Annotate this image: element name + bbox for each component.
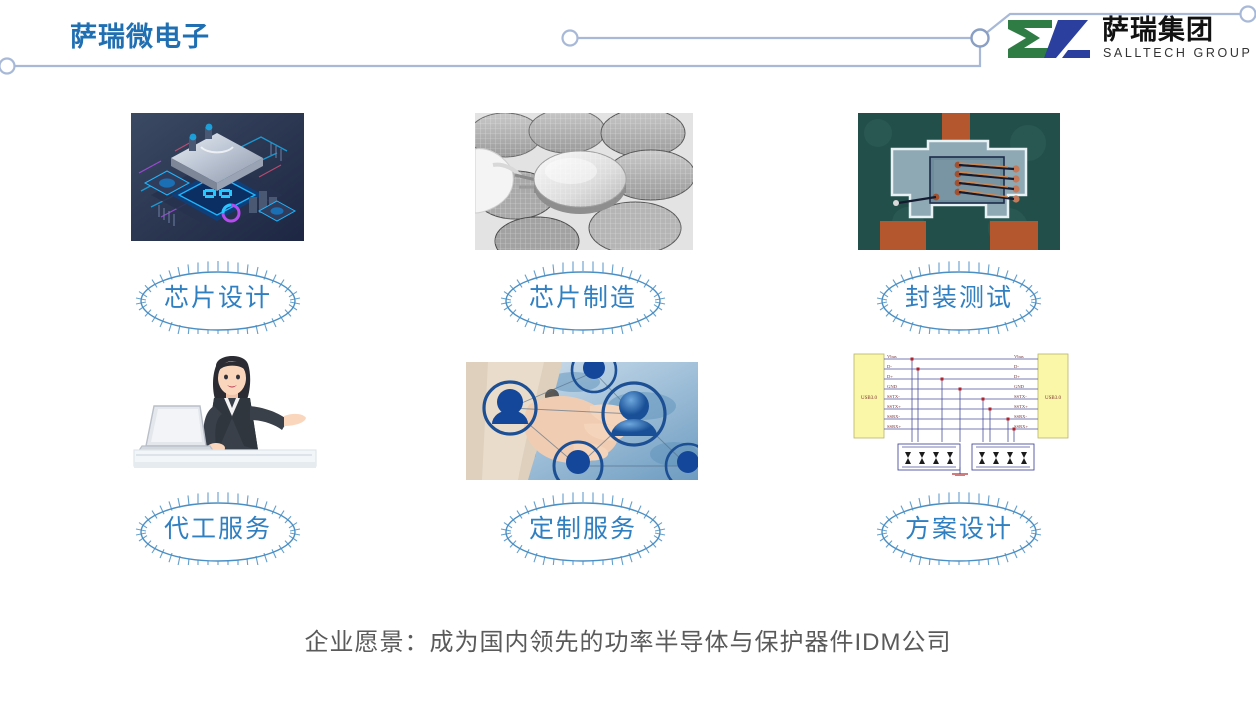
logo-name-cn: 萨瑞集团 [1102, 14, 1214, 46]
svg-text:SSTX-: SSTX- [1014, 394, 1027, 399]
chip-design-image [131, 113, 304, 241]
svg-text:GND: GND [1014, 384, 1025, 389]
network-touch-image [466, 362, 698, 480]
svg-text:SSRX+: SSRX+ [887, 424, 901, 429]
svg-text:SSTX-: SSTX- [887, 394, 900, 399]
svg-text:D+: D+ [887, 374, 893, 379]
service-label: 封装测试 [854, 258, 1064, 334]
slide-header: 萨瑞微电子 萨瑞集团 SALLTECH GROUP [0, 0, 1256, 96]
business-woman-laptop-image [128, 350, 322, 474]
service-label: 芯片设计 [113, 258, 323, 334]
svg-text:D-: D- [887, 364, 892, 369]
svg-text:D-: D- [1014, 364, 1019, 369]
wire-bond-package-image [858, 113, 1060, 250]
service-badge-package-test[interactable]: 封装测试 [854, 258, 1064, 334]
svg-text:USB3.0: USB3.0 [861, 396, 877, 401]
svg-text:SSTX+: SSTX+ [887, 404, 901, 409]
svg-text:SSTX+: SSTX+ [1014, 404, 1028, 409]
service-label: 定制服务 [478, 489, 688, 565]
svg-text:Vbus: Vbus [887, 354, 897, 359]
svg-text:Vbus: Vbus [1014, 354, 1024, 359]
slide-root: 萨瑞微电子 萨瑞集团 SALLTECH GROUP [0, 0, 1256, 704]
service-label: 芯片制造 [478, 258, 688, 334]
service-badge-chip-design[interactable]: 芯片设计 [113, 258, 323, 334]
company-logo: 萨瑞集团 SALLTECH GROUP [1006, 14, 1246, 66]
usb3-schematic-image: USB3.0 USB3.0 VbusD-D+GND SSTX-SSTX+SSRX… [848, 346, 1074, 476]
service-badge-solution-design[interactable]: 方案设计 [854, 489, 1064, 565]
usb3-schematic-svg: USB3.0 USB3.0 VbusD-D+GND SSTX-SSTX+SSRX… [848, 346, 1074, 476]
vision-statement: 企业愿景：成为国内领先的功率半导体与保护器件IDM公司 [0, 622, 1256, 657]
svg-text:SSRX-: SSRX- [1014, 414, 1027, 419]
salltech-logo-mark-icon [1006, 18, 1092, 60]
service-badge-custom-service[interactable]: 定制服务 [478, 489, 688, 565]
svg-text:USB3.0: USB3.0 [1045, 396, 1061, 401]
svg-text:SSRX+: SSRX+ [1014, 424, 1028, 429]
logo-name-en: SALLTECH GROUP [1103, 46, 1252, 60]
service-label: 方案设计 [854, 489, 1064, 565]
service-label: 代工服务 [113, 489, 323, 565]
svg-text:GND: GND [887, 384, 898, 389]
service-badge-foundry-service[interactable]: 代工服务 [113, 489, 323, 565]
silicon-wafer-image [475, 113, 693, 250]
service-badge-chip-manufacturing[interactable]: 芯片制造 [478, 258, 688, 334]
svg-text:D+: D+ [1014, 374, 1020, 379]
svg-text:SSRX-: SSRX- [887, 414, 900, 419]
page-title: 萨瑞微电子 [70, 15, 210, 54]
